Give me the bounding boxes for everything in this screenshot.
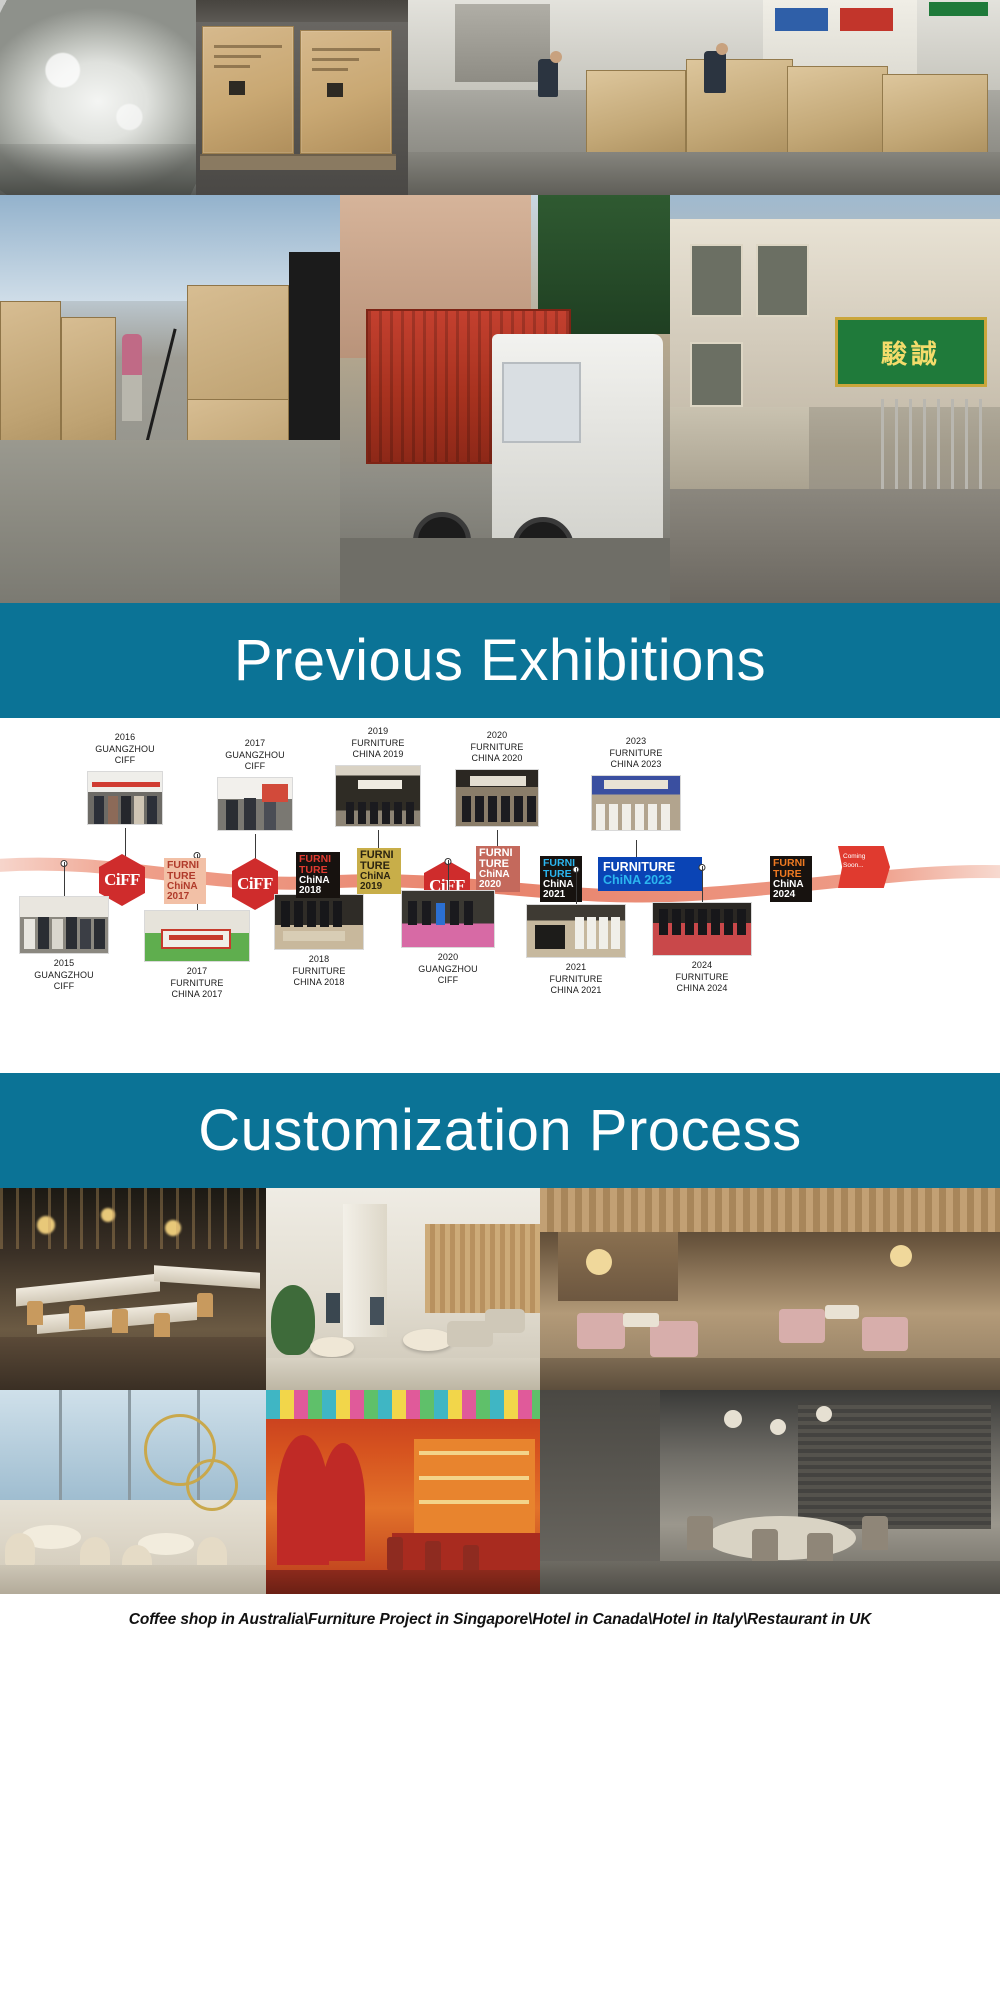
badge-line-2: TURE: [543, 869, 572, 880]
badge-line-2: ChiNA 2023: [603, 874, 672, 887]
photo-colorful-mexican-bar: [266, 1390, 540, 1594]
timeline-caption: 2023 FURNITURE CHINA 2023: [588, 736, 684, 771]
timeline-thumbnail: [401, 890, 495, 948]
section-banner-previous-exhibitions: Previous Exhibitions: [0, 603, 1000, 718]
timeline-node-2023-furniture-china[interactable]: 2023 FURNITURE CHINA 2023: [588, 736, 684, 831]
timeline-node-2021-furniture-china[interactable]: 2021 FURNITURE CHINA 2021: [524, 904, 628, 997]
timeline-thumbnail: [526, 904, 626, 958]
timeline-node-2024-furniture-china[interactable]: 2024 FURNITURE CHINA 2024: [650, 902, 754, 995]
timeline-node-2015-guangzhou-ciff[interactable]: 2015 GUANGZHOU CIFF: [16, 896, 112, 993]
section-banner-customization-process: Customization Process: [0, 1073, 1000, 1188]
badge-line-4: 2020: [479, 880, 501, 890]
timeline-thumbnail: [217, 777, 293, 831]
timeline-node-2020-furniture-china[interactable]: 2020 FURNITURE CHINA 2020: [452, 730, 542, 827]
photo-factory-entrance-signage: 駿誠: [670, 195, 1000, 603]
timeline-node-2017-furniture-china[interactable]: 2017 FURNITURE CHINA 2017: [142, 910, 252, 1001]
timeline-thumbnail: [87, 771, 163, 825]
timeline-thumbnail: [652, 902, 752, 956]
timeline-node-2018-furniture-china[interactable]: 2018 FURNITURE CHINA 2018: [272, 894, 366, 989]
projects-caption-text: Coffee shop in Australia\Furniture Proje…: [129, 1611, 871, 1629]
badge-line-2: TURE: [773, 869, 802, 880]
photo-forklift-loading-pallet: [0, 195, 340, 603]
timeline-thumbnail: [19, 896, 109, 954]
timeline-caption: 2015 GUANGZHOU CIFF: [16, 958, 112, 993]
badge-line-4: 2021: [543, 890, 565, 900]
photo-hotel-atrium-seating: [0, 1390, 266, 1594]
timeline-thumbnail: [274, 894, 364, 950]
timeline-badge-furniture-china-2024[interactable]: FURNI TURE ChiNA 2024: [770, 856, 812, 902]
photo-banquet-hall-long-tables: [0, 1188, 266, 1390]
timeline-badge-furniture-china-2023[interactable]: FURNITURE ChiNA 2023: [598, 857, 702, 891]
banner-title-customization-process: Customization Process: [198, 1102, 802, 1160]
timeline-caption: 2020 FURNITURE CHINA 2020: [452, 730, 542, 765]
badge-line-4: 2018: [299, 886, 321, 896]
photo-meeting-room-round-table: [540, 1390, 1000, 1594]
photo-workers-packing-cartons: [408, 0, 1000, 195]
exhibition-timeline: 2016 GUANGZHOU CIFF CiFF 2017 GUANGZHOU …: [0, 718, 1000, 1073]
timeline-caption: 2016 GUANGZHOU CIFF: [82, 732, 168, 767]
interior-projects-grid: [0, 1188, 1000, 1594]
banner-title-previous-exhibitions: Previous Exhibitions: [234, 632, 766, 690]
timeline-thumbnail: [455, 769, 539, 827]
timeline-caption: 2021 FURNITURE CHINA 2021: [524, 962, 628, 997]
timeline-badge-furniture-china-2017[interactable]: FURNI TURE ChiNA 2017: [164, 858, 206, 904]
timeline-caption: 2017 GUANGZHOU CIFF: [212, 738, 298, 773]
timeline-caption: 2024 FURNITURE CHINA 2024: [650, 960, 754, 995]
timeline-node-2020-guangzhou-ciff[interactable]: 2020 GUANGZHOU CIFF: [398, 890, 498, 987]
timeline-thumbnail: [591, 775, 681, 831]
badge-line-2: TURE: [299, 865, 328, 876]
badge-line-4: 2024: [773, 890, 795, 900]
shipping-photo-strip: 駿誠: [0, 195, 1000, 603]
badge-line-4: 2019: [360, 882, 382, 892]
timeline-thumbnail: [335, 765, 421, 827]
photo-hotel-lobby-lounge: [266, 1188, 540, 1390]
packing-photo-strip: [0, 0, 1000, 195]
photo-restaurant-pink-armchairs: [540, 1188, 1000, 1390]
timeline-caption: 2020 GUANGZHOU CIFF: [398, 952, 498, 987]
coming-soon-label: Coming Soon...: [843, 853, 865, 869]
timeline-caption: 2019 FURNITURE CHINA 2019: [332, 726, 424, 761]
photo-stacked-cartons-on-pallet: [196, 0, 408, 195]
badge-label: CiFF: [237, 874, 273, 894]
badge-label: CiFF: [104, 870, 140, 890]
badge-line-4: 2017: [167, 892, 189, 902]
projects-caption-bar: Coffee shop in Australia\Furniture Proje…: [0, 1594, 1000, 1645]
timeline-node-2016-guangzhou-ciff[interactable]: 2016 GUANGZHOU CIFF: [82, 732, 168, 825]
timeline-badge-coming-soon[interactable]: Coming Soon...: [838, 846, 890, 888]
photo-plastic-wrapped-bundle: [0, 0, 196, 195]
timeline-badge-furniture-china-2019[interactable]: FURNI TURE ChiNA 2019: [357, 848, 401, 894]
timeline-thumbnail: [144, 910, 250, 962]
timeline-node-2019-furniture-china[interactable]: 2019 FURNITURE CHINA 2019: [332, 726, 424, 827]
timeline-node-2017-guangzhou-ciff[interactable]: 2017 GUANGZHOU CIFF: [212, 738, 298, 831]
timeline-caption: 2017 FURNITURE CHINA 2017: [142, 966, 252, 1001]
timeline-badge-furniture-china-2020[interactable]: FURNI TURE ChiNA 2020: [476, 846, 520, 892]
timeline-badge-furniture-china-2018[interactable]: FURNI TURE ChiNA 2018: [296, 852, 340, 898]
badge-line-2: TURE: [167, 871, 196, 882]
timeline-caption: 2018 FURNITURE CHINA 2018: [272, 954, 366, 989]
photo-red-shipping-container-truck: [340, 195, 670, 603]
